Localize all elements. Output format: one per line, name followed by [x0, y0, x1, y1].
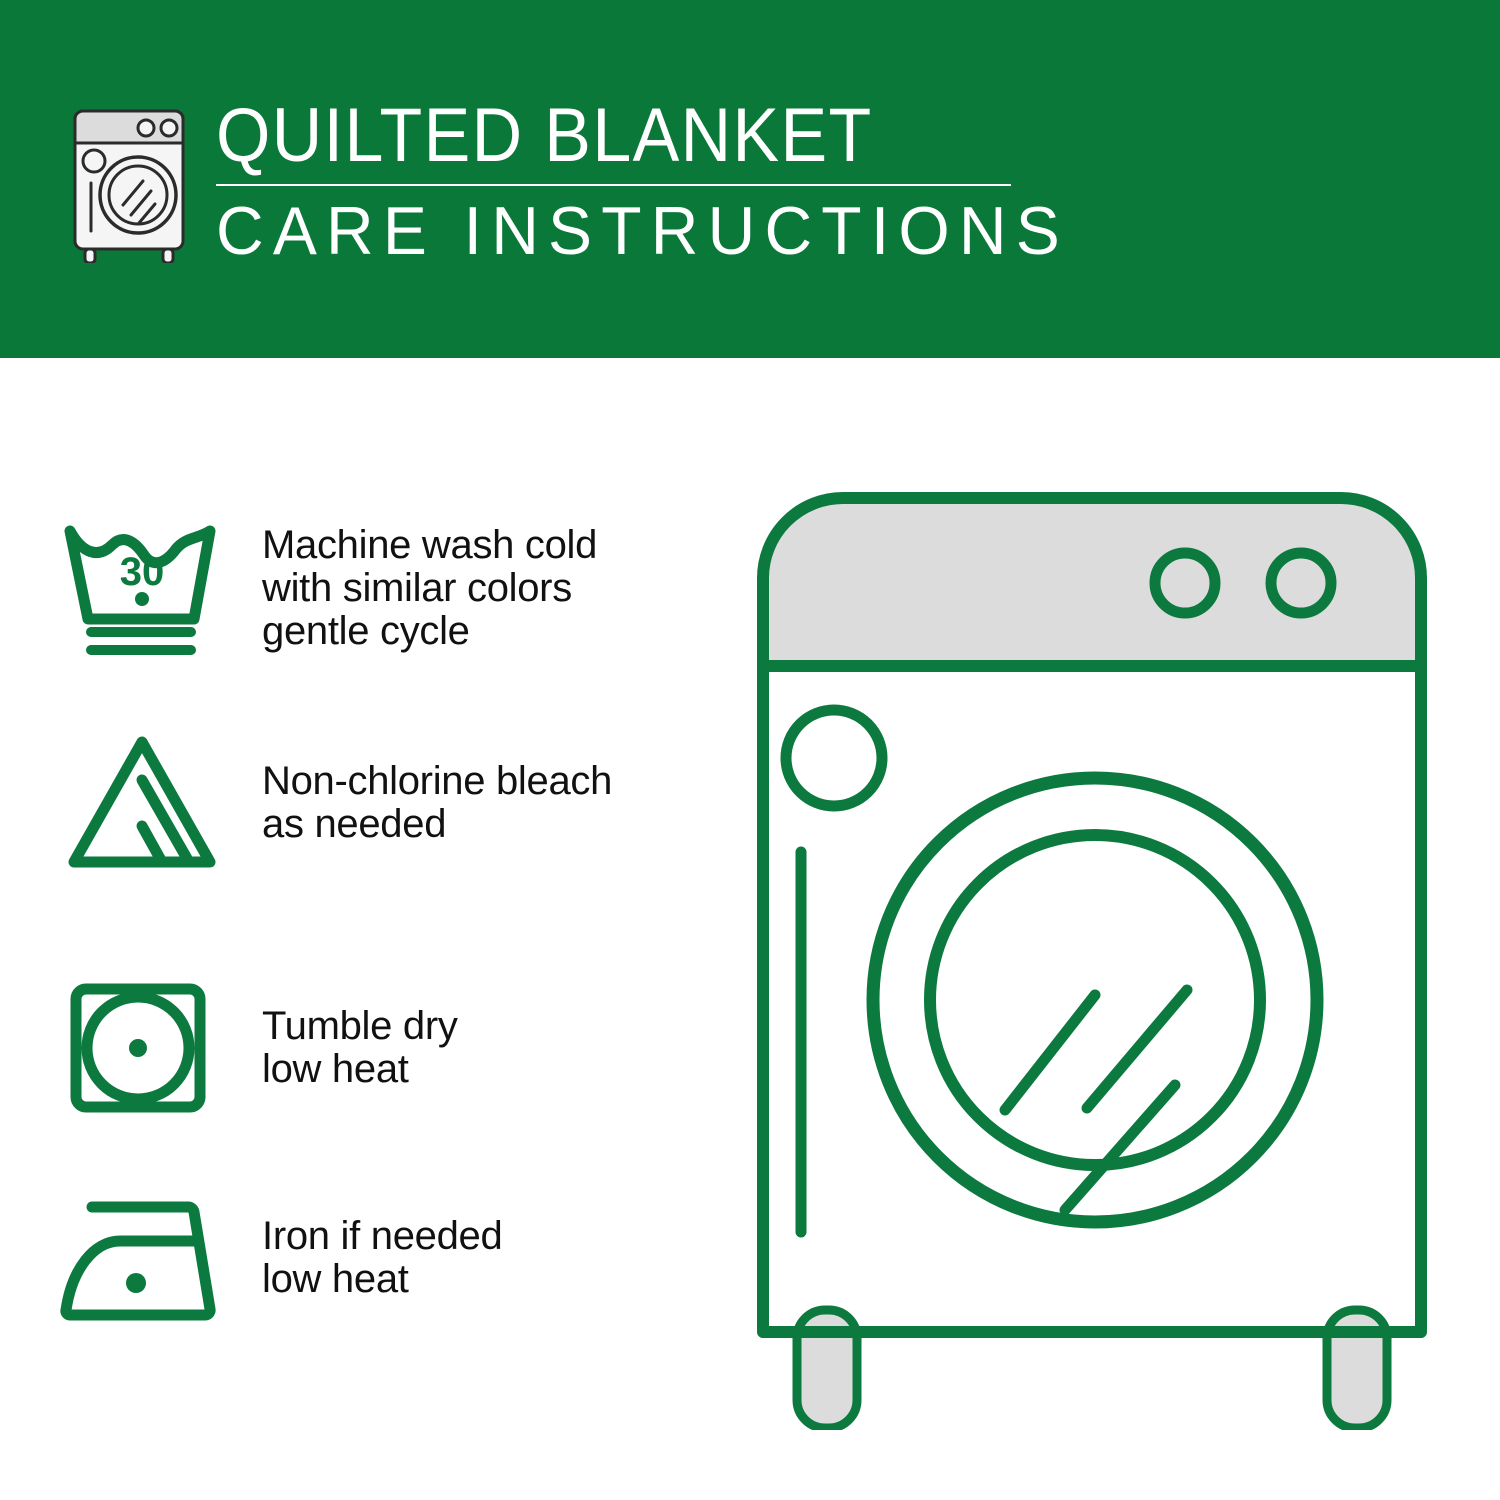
care-text-machine-wash: Machine wash cold with similar colors ge…	[262, 524, 597, 653]
machine-wash-30-gentle-icon: 30	[58, 508, 238, 668]
title-divider	[216, 184, 1011, 186]
tumble-dry-low-heat-icon	[58, 968, 238, 1128]
header-banner: QUILTED BLANKET CARE INSTRUCTIONS	[0, 0, 1500, 358]
care-text-bleach: Non-chlorine bleach as needed	[262, 760, 612, 846]
iron-low-heat-icon	[58, 1178, 238, 1338]
washing-machine-icon	[63, 103, 203, 263]
svg-text:30: 30	[120, 550, 165, 594]
care-row-tumble-dry: Tumble dry low heat	[0, 968, 740, 1128]
care-row-iron: Iron if needed low heat	[0, 1178, 740, 1338]
page-title: QUILTED BLANKET	[216, 96, 970, 176]
care-instructions-list: 30 Machine wash cold with similar colors…	[0, 358, 740, 1500]
header-title-block: QUILTED BLANKET CARE INSTRUCTIONS	[216, 96, 1036, 270]
front-load-washing-machine-illustration	[735, 470, 1475, 1430]
non-chlorine-bleach-triangle-icon	[58, 723, 238, 883]
care-row-bleach: Non-chlorine bleach as needed	[0, 723, 740, 883]
care-row-machine-wash: 30 Machine wash cold with similar colors…	[0, 508, 740, 668]
care-text-tumble-dry: Tumble dry low heat	[262, 1005, 458, 1091]
page-subtitle: CARE INSTRUCTIONS	[216, 192, 1011, 270]
care-text-iron: Iron if needed low heat	[262, 1215, 502, 1301]
